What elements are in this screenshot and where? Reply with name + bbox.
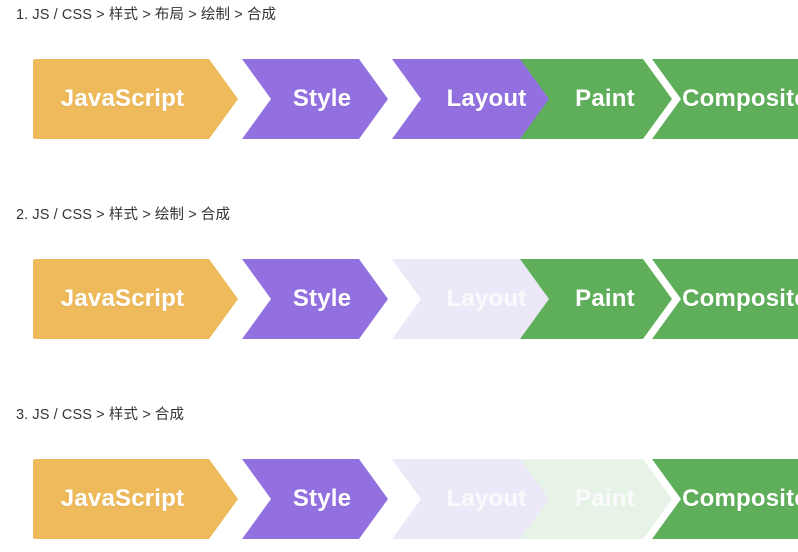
stage-label-composite: Composite [664, 87, 798, 111]
stage-javascript: JavaScript [33, 59, 238, 139]
stage-label-layout: Layout [427, 87, 527, 111]
stage-label-composite: Composite [664, 287, 798, 311]
stage-style: Style [242, 59, 388, 139]
stage-style: Style [242, 459, 388, 539]
stage-label-javascript: JavaScript [61, 87, 210, 111]
stage-composite: Composite [652, 59, 798, 139]
stage-label-layout: Layout [427, 487, 527, 511]
stage-composite: Composite [652, 459, 798, 539]
pipeline-diagram-2: JavaScript Style Layout Paint Composite [33, 259, 787, 339]
stage-javascript: JavaScript [33, 259, 238, 339]
pipeline-section-2: 2. JS / CSS > 样式 > 绘制 > 合成 JavaScript St… [0, 200, 798, 339]
section-2-heading: 2. JS / CSS > 样式 > 绘制 > 合成 [0, 200, 798, 230]
stage-label-javascript: JavaScript [61, 287, 210, 311]
stage-label-javascript: JavaScript [61, 487, 210, 511]
pipeline-diagram-1: JavaScript Style Layout Paint Composite [33, 59, 787, 139]
stage-label-style: Style [279, 487, 351, 511]
stage-label-style: Style [279, 287, 351, 311]
stage-label-paint: Paint [557, 87, 635, 111]
pipeline-diagram-3: JavaScript Style Layout Paint Composite [33, 459, 787, 539]
stage-label-composite: Composite [664, 487, 798, 511]
stage-label-style: Style [279, 87, 351, 111]
stage-style: Style [242, 259, 388, 339]
section-3-heading: 3. JS / CSS > 样式 > 合成 [0, 400, 798, 430]
pipeline-section-1: 1. JS / CSS > 样式 > 布局 > 绘制 > 合成 JavaScri… [0, 0, 798, 139]
rendering-pipeline-page: 1. JS / CSS > 样式 > 布局 > 绘制 > 合成 JavaScri… [0, 0, 798, 552]
stage-javascript: JavaScript [33, 459, 238, 539]
stage-label-paint: Paint [557, 487, 635, 511]
stage-label-paint: Paint [557, 287, 635, 311]
stage-composite: Composite [652, 259, 798, 339]
section-1-heading: 1. JS / CSS > 样式 > 布局 > 绘制 > 合成 [0, 0, 798, 30]
stage-label-layout: Layout [427, 287, 527, 311]
pipeline-section-3: 3. JS / CSS > 样式 > 合成 JavaScript Style L… [0, 400, 798, 539]
